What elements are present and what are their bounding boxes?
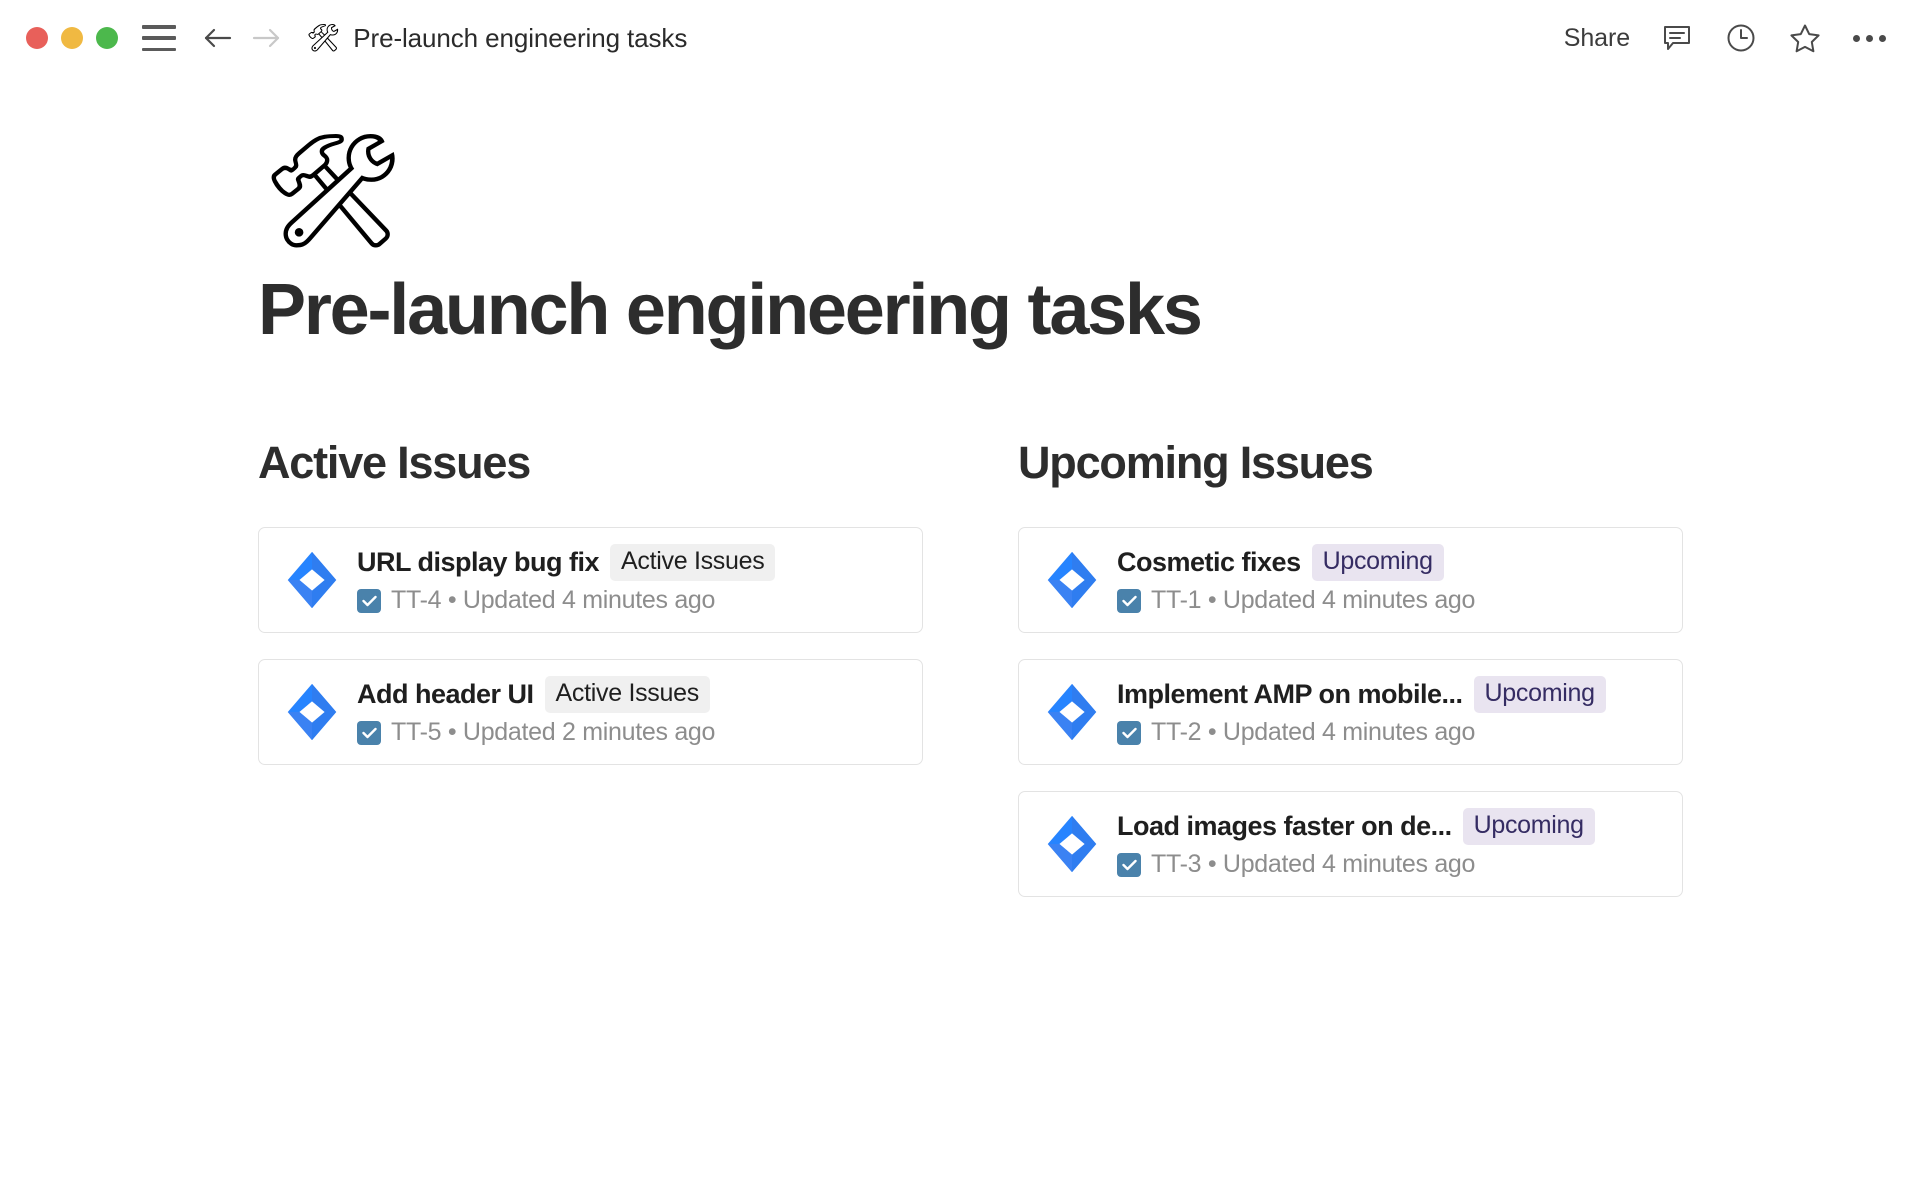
issue-card-body: Implement AMP on mobile... Upcoming TT-2… <box>1117 676 1660 747</box>
hamburger-menu-icon[interactable] <box>142 25 176 51</box>
page-title: Pre-launch engineering tasks <box>258 270 1758 351</box>
minimize-window-button[interactable] <box>61 27 83 49</box>
jira-icon <box>281 549 343 611</box>
issue-card[interactable]: Load images faster on de... Upcoming TT-… <box>1018 791 1683 897</box>
issue-card-body: Load images faster on de... Upcoming TT-… <box>1117 808 1660 879</box>
column-heading: Active Issues <box>258 437 923 489</box>
issue-meta: TT-4 • Updated 4 minutes ago <box>391 586 715 615</box>
document-page: 🛠 Pre-launch engineering tasks Active Is… <box>0 76 1920 923</box>
issue-card-body: Add header UI Active Issues TT-5 • Updat… <box>357 676 900 747</box>
jira-icon <box>1041 813 1103 875</box>
close-window-button[interactable] <box>26 27 48 49</box>
share-button[interactable]: Share <box>1564 24 1630 53</box>
issue-status-tag: Active Issues <box>545 676 710 713</box>
issue-checkbox[interactable] <box>357 721 381 745</box>
issue-card-meta-row: TT-4 • Updated 4 minutes ago <box>357 586 900 615</box>
comment-icon[interactable] <box>1660 21 1694 55</box>
issue-card-body: Cosmetic fixes Upcoming TT-1 • Updated 4… <box>1117 544 1660 615</box>
hamburger-bar <box>142 25 176 29</box>
issue-card-meta-row: TT-5 • Updated 2 minutes ago <box>357 718 900 747</box>
column-upcoming-issues: Upcoming Issues Cosmetic fixes <box>1018 437 1683 923</box>
hamburger-bar <box>142 48 176 52</box>
issue-card-header: Cosmetic fixes Upcoming <box>1117 544 1660 581</box>
issue-card-header: Add header UI Active Issues <box>357 676 900 713</box>
maximize-window-button[interactable] <box>96 27 118 49</box>
issue-status-tag: Upcoming <box>1463 808 1595 845</box>
issue-title: Add header UI <box>357 679 534 710</box>
issue-title: Cosmetic fixes <box>1117 547 1301 578</box>
navigation-arrows <box>200 21 284 55</box>
issue-card[interactable]: URL display bug fix Active Issues TT-4 •… <box>258 527 923 633</box>
issue-columns: Active Issues URL display bug fix <box>258 437 1758 923</box>
more-dot <box>1866 35 1873 42</box>
issue-checkbox[interactable] <box>1117 721 1141 745</box>
document-title-breadcrumb: Pre-launch engineering tasks <box>353 23 687 54</box>
more-dot <box>1879 35 1886 42</box>
issue-checkbox[interactable] <box>357 589 381 613</box>
issue-status-tag: Active Issues <box>610 544 775 581</box>
titlebar-actions: Share <box>1564 21 1886 55</box>
issue-checkbox[interactable] <box>1117 589 1141 613</box>
issue-card-meta-row: TT-2 • Updated 4 minutes ago <box>1117 718 1660 747</box>
issue-status-tag: Upcoming <box>1312 544 1444 581</box>
issue-title: Load images faster on de... <box>1117 811 1452 842</box>
document-hero-emoji[interactable]: 🛠 <box>262 131 1758 252</box>
issue-meta: TT-3 • Updated 4 minutes ago <box>1151 850 1475 879</box>
forward-arrow-icon[interactable] <box>250 21 284 55</box>
issue-meta: TT-5 • Updated 2 minutes ago <box>391 718 715 747</box>
clock-history-icon[interactable] <box>1724 21 1758 55</box>
issue-title: URL display bug fix <box>357 547 599 578</box>
issue-card-body: URL display bug fix Active Issues TT-4 •… <box>357 544 900 615</box>
issue-card-meta-row: TT-3 • Updated 4 minutes ago <box>1117 850 1660 879</box>
issue-title: Implement AMP on mobile... <box>1117 679 1463 710</box>
jira-icon <box>281 681 343 743</box>
traffic-lights <box>26 27 118 49</box>
issue-card-header: URL display bug fix Active Issues <box>357 544 900 581</box>
column-heading: Upcoming Issues <box>1018 437 1683 489</box>
jira-icon <box>1041 681 1103 743</box>
issue-card[interactable]: Implement AMP on mobile... Upcoming TT-2… <box>1018 659 1683 765</box>
issue-meta: TT-2 • Updated 4 minutes ago <box>1151 718 1475 747</box>
document-content: 🛠 Pre-launch engineering tasks Active Is… <box>258 131 1758 923</box>
star-icon[interactable] <box>1788 21 1822 55</box>
back-arrow-icon[interactable] <box>200 21 234 55</box>
hamburger-bar <box>142 36 176 40</box>
issue-card[interactable]: Add header UI Active Issues TT-5 • Updat… <box>258 659 923 765</box>
document-emoji-small: 🛠 <box>306 25 340 52</box>
issue-card-header: Load images faster on de... Upcoming <box>1117 808 1660 845</box>
window-titlebar: 🛠 Pre-launch engineering tasks Share <box>0 0 1920 76</box>
issue-card-header: Implement AMP on mobile... Upcoming <box>1117 676 1660 713</box>
column-active-issues: Active Issues URL display bug fix <box>258 437 923 923</box>
issue-status-tag: Upcoming <box>1474 676 1606 713</box>
more-dot <box>1853 35 1860 42</box>
issue-meta: TT-1 • Updated 4 minutes ago <box>1151 586 1475 615</box>
jira-icon <box>1041 549 1103 611</box>
issue-card-meta-row: TT-1 • Updated 4 minutes ago <box>1117 586 1660 615</box>
issue-checkbox[interactable] <box>1117 853 1141 877</box>
more-options-icon[interactable] <box>1852 21 1886 55</box>
issue-card[interactable]: Cosmetic fixes Upcoming TT-1 • Updated 4… <box>1018 527 1683 633</box>
